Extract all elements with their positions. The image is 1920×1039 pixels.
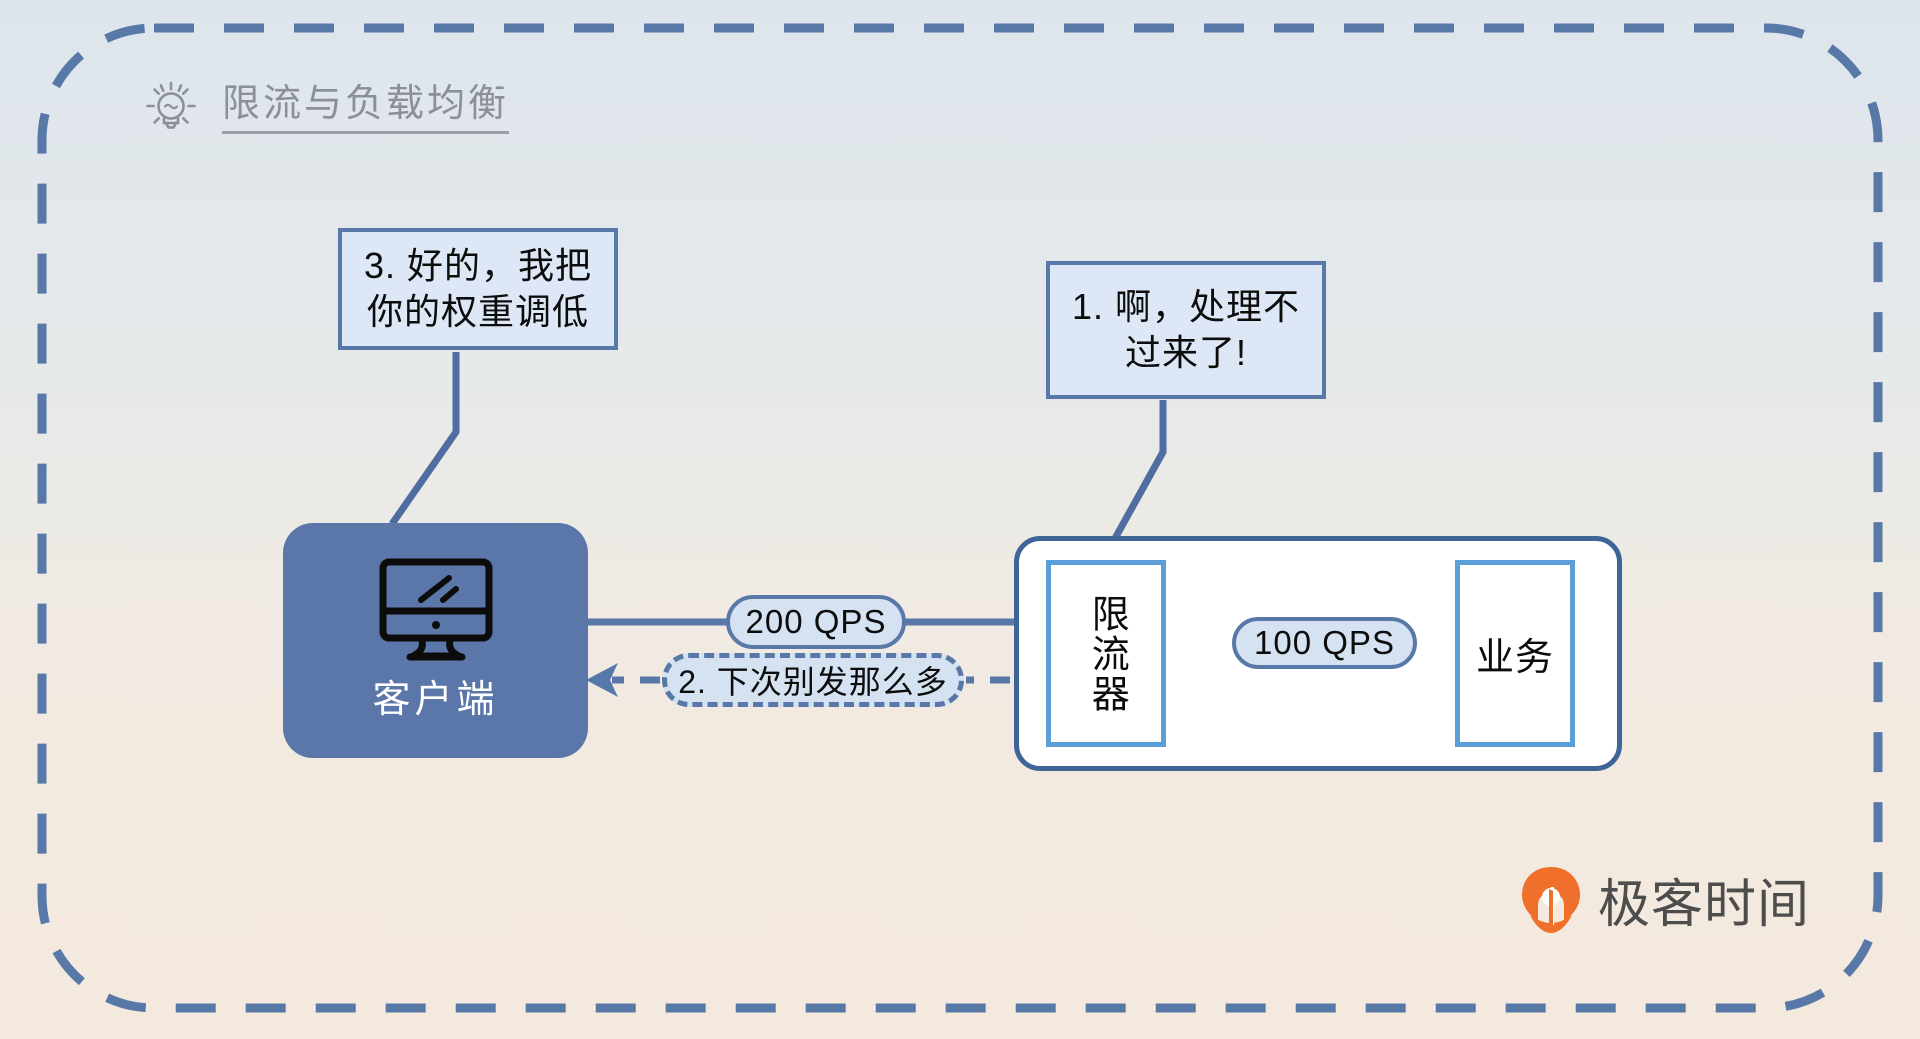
monitor-icon [377,558,495,662]
edge-label-request-qps-text: 200 QPS [746,603,887,641]
node-client-label: 客户端 [372,668,498,723]
callout-step-3-text: 3. 好的，我把你的权重调低 [356,243,600,335]
callout-step-3: 3. 好的，我把你的权重调低 [338,228,618,350]
edge-label-throttled-qps-text: 100 QPS [1254,624,1395,662]
lightbulb-icon [140,78,202,140]
node-limiter-label: 限流器 [1085,594,1128,714]
edge-label-throttled-qps: 100 QPS [1232,617,1417,669]
node-business[interactable]: 业务 [1455,560,1575,747]
outer-dashed-frame [42,28,1878,1008]
page-title-group: 限流与负载均衡 [140,78,509,140]
edge-label-feedback-text: 2. 下次别发那么多 [678,657,948,703]
brand-logo: 极客时间 [1518,862,1810,937]
node-limiter[interactable]: 限流器 [1046,560,1166,747]
arrowhead-to-client [586,663,618,697]
edge-label-feedback: 2. 下次别发那么多 [662,653,964,707]
callout-step-1: 1. 啊，处理不过来了! [1046,261,1326,399]
node-business-label: 业务 [1476,626,1554,681]
node-client[interactable]: 客户端 [283,523,588,758]
connector-callout-3 [392,352,456,524]
page-title: 限流与负载均衡 [222,84,509,134]
edge-label-request-qps: 200 QPS [726,595,906,649]
callout-step-1-text: 1. 啊，处理不过来了! [1064,284,1308,376]
diagram-canvas: 限流与负载均衡 3. 好的，我把你的权重调低 1. 啊，处理不过来了! 客户端 … [0,0,1920,1039]
brand-logo-text: 极客时间 [1598,862,1810,937]
geekbang-logo-icon [1518,865,1584,935]
